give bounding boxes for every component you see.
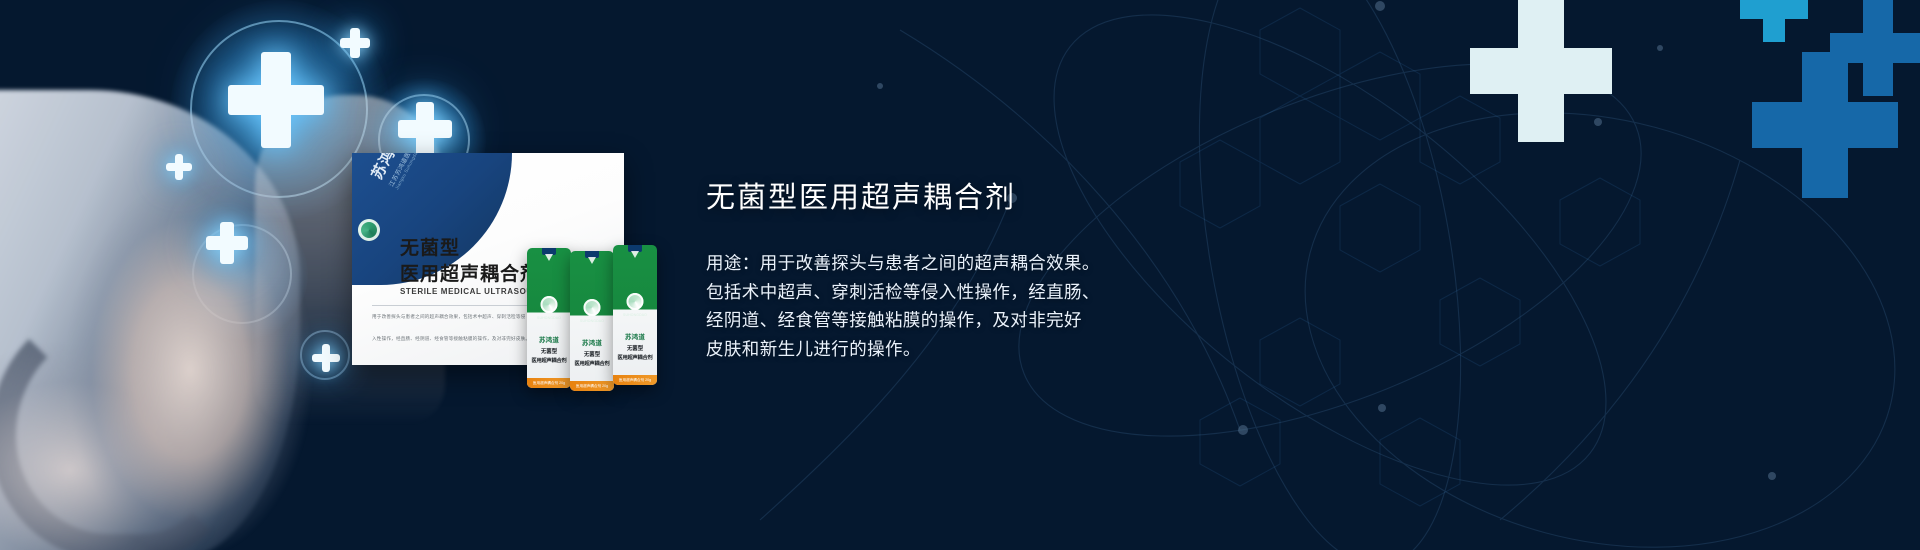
banner-copy: 无菌型医用超声耦合剂 用途：用于改善探头与患者之间的超声耦合效果。 包括术中超声…	[706, 174, 1246, 363]
sachet-brand: 苏鸿道	[613, 331, 657, 341]
sachet-brand: 苏鸿道	[570, 337, 614, 347]
sachet-mark-sub: SUHONGDAO	[570, 319, 614, 323]
sachet-line2: 医用超声耦合剂	[527, 357, 571, 364]
sachet-band-text: 医用超声耦合剂 20g	[613, 375, 657, 385]
box-title-line2: 医用超声耦合剂	[400, 259, 540, 286]
sachet-mark-sub: SUHONGDAO	[613, 313, 657, 317]
sachet-band-text: 医用超声耦合剂 20g	[570, 381, 614, 391]
sachet-swirl-icon	[541, 296, 558, 313]
sachet-brand: 苏鸿道	[527, 334, 571, 344]
sachet-mark-sub: SUHONGDAO	[527, 316, 571, 320]
sachet-swirl-icon	[627, 293, 644, 310]
neon-cross-medium-icon	[398, 102, 452, 156]
description-line-4: 皮肤和新生儿进行的操作。	[706, 335, 1246, 364]
sachet-line2: 医用超声耦合剂	[613, 354, 657, 361]
sachet-band: 医用超声耦合剂 20g	[570, 381, 614, 391]
flat-cross-cyan-icon	[1740, 0, 1808, 42]
sachet-back: SUHONGDAO 苏鸿道 无菌型 医用超声耦合剂 医用超声耦合剂 20g	[527, 248, 571, 388]
sachet-line1: 无菌型	[527, 347, 571, 355]
product-group: 苏鸿道 江苏苏鸿道医疗器械有限公司 Jiangsu Suhongdao Medi…	[352, 153, 672, 403]
sachet-middle: SUHONGDAO 苏鸿道 无菌型 医用超声耦合剂 医用超声耦合剂 20g	[570, 251, 614, 391]
sachet-arrow-icon	[588, 257, 596, 264]
sachet-line1: 无菌型	[570, 350, 614, 358]
sachet-band-text: 医用超声耦合剂 20g	[527, 378, 571, 388]
box-title-line1: 无菌型	[400, 233, 460, 260]
sachet-arrow-icon	[545, 254, 553, 261]
sachet-arrow-icon	[631, 251, 639, 258]
flat-cross-blue-large-icon	[1752, 52, 1898, 198]
neon-cross-mid-left-icon	[206, 222, 248, 264]
description-line-2: 包括术中超声、穿刺活检等侵入性操作，经直肠、	[706, 278, 1246, 307]
product-banner: 苏鸿道 江苏苏鸿道医疗器械有限公司 Jiangsu Suhongdao Medi…	[0, 0, 1920, 550]
sachet-band: 医用超声耦合剂 20g	[527, 378, 571, 388]
sachet-band: 医用超声耦合剂 20g	[613, 375, 657, 385]
sachet-line1: 无菌型	[613, 344, 657, 352]
flat-cross-white-icon	[1470, 0, 1612, 142]
description-line-1: 用途：用于改善探头与患者之间的超声耦合效果。	[706, 249, 1246, 278]
box-brand-logo: 苏鸿道 江苏苏鸿道医疗器械有限公司 Jiangsu Suhongdao Medi…	[366, 153, 450, 190]
description-line-3: 经阴道、经食管等接触粘膜的操作，及对非完好	[706, 306, 1246, 335]
brand-swirl-icon	[358, 219, 380, 241]
sachet-line2: 医用超声耦合剂	[570, 360, 614, 367]
neon-cross-small-top-icon	[340, 28, 370, 58]
banner-headline: 无菌型医用超声耦合剂	[706, 174, 1246, 216]
sachet-front: SUHONGDAO 苏鸿道 无菌型 医用超声耦合剂 医用超声耦合剂 20g	[613, 245, 657, 385]
sachet-swirl-icon	[584, 299, 601, 316]
neon-cross-small-left-icon	[166, 154, 192, 180]
neon-cross-large-icon	[228, 52, 324, 148]
banner-description: 用途：用于改善探头与患者之间的超声耦合效果。 包括术中超声、穿刺活检等侵入性操作…	[706, 249, 1246, 363]
neon-cross-bottom-icon	[312, 344, 340, 372]
